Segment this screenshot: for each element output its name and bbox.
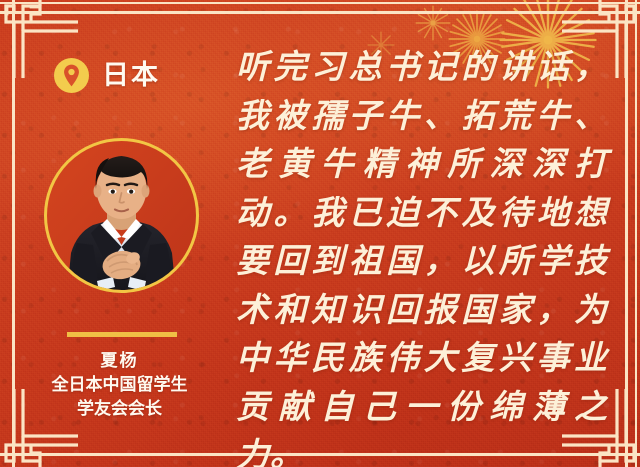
- firework-burst-small-icon: [412, 2, 454, 44]
- person-title-line2: 学友会会长: [22, 397, 217, 421]
- avatar-gold-ring: [44, 138, 199, 293]
- quote-text: 听完习总书记的讲话，我被孺子牛、拓荒牛、老黄牛精神所深深打动。我已迫不及待地想要…: [236, 44, 608, 467]
- border-line-left: [12, 0, 15, 467]
- poster-card: 日本: [0, 0, 640, 467]
- map-pin-icon: [54, 58, 89, 93]
- gold-divider: [67, 332, 177, 337]
- border-line-right-inner: [625, 0, 628, 467]
- border-line-top-inner: [0, 11, 640, 14]
- avatar: [44, 138, 199, 315]
- border-line-top-outer: [0, 2, 640, 4]
- location-label: 日本: [102, 62, 160, 89]
- border-line-right-outer: [635, 0, 637, 467]
- person-name: 夏杨: [22, 349, 217, 373]
- person-info: 夏杨 全日本中国留学生 学友会会长: [22, 349, 217, 421]
- person-title-line1: 全日本中国留学生: [22, 373, 217, 397]
- profile-panel: 日本: [18, 16, 216, 451]
- location-row: 日本: [54, 58, 160, 93]
